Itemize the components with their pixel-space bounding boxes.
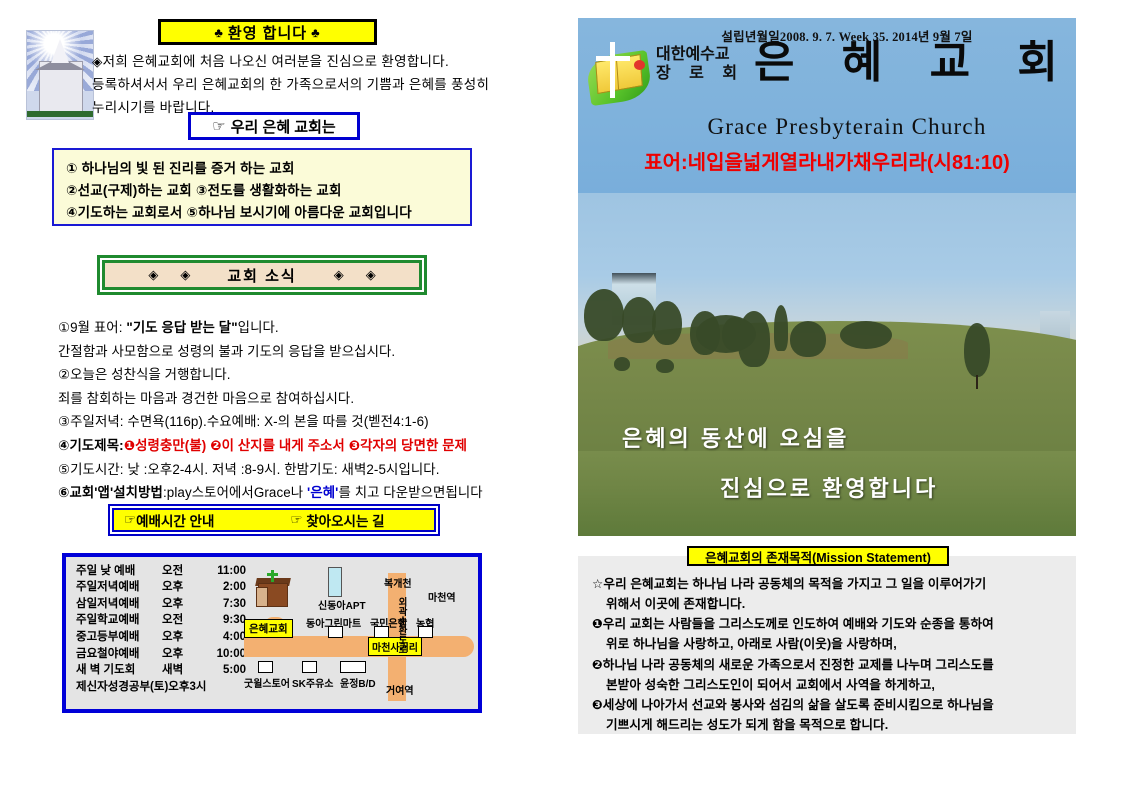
- church-motto: 표어:네입을넓게열라내가채우리라(시81:10): [578, 146, 1076, 175]
- prayer-topics-label: ④기도제목:: [58, 438, 124, 453]
- schedule-row: 주일학교예배 오전 9:30: [76, 613, 266, 630]
- news-item-prefix: ①9월 표어:: [58, 320, 126, 335]
- welcome-banner-title: 환영 합니다: [228, 22, 307, 43]
- schedule-row: 금요철야예배 오후 10:00: [76, 646, 266, 663]
- schedule-row-bible-study: 제신자성경공부(토)오후3시: [76, 679, 266, 696]
- our-church-banner: ☞ 우리 은혜 교회는: [188, 112, 360, 140]
- church-news-body: ①9월 표어: "기도 응답 받는 달"입니다. 간절함과 사모함으로 성령의 …: [58, 316, 558, 505]
- service-time: 7:30: [194, 599, 246, 611]
- church-name-english: Grace Presbyterain Church: [578, 114, 1076, 140]
- news-item: 간절함과 사모함으로 성령의 불과 기도의 응답을 받으십시다.: [58, 340, 558, 364]
- diamond-icon: ◈: [148, 267, 158, 283]
- schedule-row: 중고등부예배 오후 4:00: [76, 629, 266, 646]
- bible-study-text: 제신자성경공부(토)오후3시: [76, 682, 266, 694]
- service-name: 새 벽 기도회: [76, 665, 162, 677]
- map-mart-box: [328, 626, 343, 638]
- service-time: 9:30: [194, 615, 246, 627]
- map-church-side: [256, 587, 268, 607]
- church-header-banner: 설립년월일2008. 9. 7. Week 35. 2014년 9월 7일 대한…: [578, 18, 1076, 193]
- photo-tree: [790, 321, 826, 357]
- map-nonghyup-box: [418, 626, 433, 638]
- service-ampm: 오전: [162, 566, 194, 578]
- worship-directions-banner: ☞예배시간 안내 ☞ 찾아오시는 길: [108, 504, 440, 536]
- mission-line: 본받아 성숙한 그리스도인이 되어서 교회에서 사역을 하게하고,: [592, 675, 1066, 695]
- our-church-list-box: ① 하나님의 빛 된 진리를 증거 하는 교회 ②선교(구제)하는 교회 ③전도…: [52, 148, 472, 226]
- news-item-tail: 입니다.: [238, 320, 279, 335]
- mission-line: 위로 하나님을 사랑하고, 아래로 사람(이웃)을 사랑하며,: [592, 634, 1066, 654]
- news-item: 죄를 참회하는 마음과 경건한 마음으로 참여하십시다.: [58, 387, 558, 411]
- service-ampm: 새벽: [162, 665, 194, 677]
- app-install-label: ⑥교회'앱'설치방법: [58, 485, 163, 500]
- photo-tree: [774, 305, 788, 351]
- news-prayer-time: ⑤기도시간: 낮 :오후2-4시. 저녁 :8-9시. 한밤기도: 새벽2-5시…: [58, 458, 558, 482]
- map-apt-tower-icon: [328, 567, 342, 597]
- app-keyword: '은혜': [307, 485, 338, 500]
- service-ampm: 오후: [162, 582, 194, 594]
- pointing-hand-icon-b: ☞: [290, 512, 302, 528]
- map-bank-box: [374, 626, 389, 638]
- mission-line: 위해서 이곳에 존재합니다.: [592, 594, 1066, 614]
- map-label-gas: SK주유소: [292, 675, 334, 690]
- map-label-stream: 복개천: [384, 575, 412, 590]
- map-label-store: 굿윌스토어: [244, 675, 290, 690]
- service-name: 주일저녁예배: [76, 582, 162, 594]
- cross-icon-vertical: [271, 570, 274, 582]
- schedule-row: 새 벽 기도회 새벽 5:00: [76, 663, 266, 680]
- service-time: 2:00: [194, 582, 246, 594]
- news-prayer-topics-row: ④기도제목:❶성령충만(불) ❷이 산지를 내게 주소서 ❸각자의 당면한 문제: [58, 434, 558, 458]
- service-name: 주일 낮 예배: [76, 566, 162, 578]
- worship-schedule-table: 주일 낮 예배 오전 11:00 주일저녁예배 오후 2:00 삼일저녁예배 오…: [76, 563, 266, 696]
- photo-welcome-line1: 은혜의 동산에 오심을: [622, 421, 849, 453]
- service-time: 11:00: [194, 566, 246, 578]
- mission-line: 기쁘시게 해드리는 성도가 되게 함을 목적으로 합니다.: [592, 715, 1066, 735]
- church-name-korean: 은 혜 교 회: [754, 40, 1074, 87]
- our-church-line: ②선교(구제)하는 교회 ③전도를 생활화하는 교회: [66, 180, 458, 202]
- map-building-box: [340, 661, 366, 673]
- directions-label: 찾아오시는 길: [306, 510, 384, 530]
- news-item: ②오늘은 성찬식을 거행합니다.: [58, 363, 558, 387]
- right-column: 설립년월일2008. 9. 7. Week 35. 2014년 9월 7일 대한…: [578, 18, 1076, 538]
- app-install-text-b: 를 치고 다운받으면됩니다: [338, 485, 482, 500]
- diamond-icon: ◈: [180, 267, 190, 283]
- grass-strip: [27, 111, 93, 117]
- service-time: 5:00: [194, 665, 246, 677]
- photo-tree: [964, 323, 990, 377]
- cross-icon-horizontal: [596, 56, 630, 61]
- church-steeple-shape: [51, 39, 69, 63]
- prayer-topics-value: ❶성령충만(불) ❷이 산지를 내게 주소서 ❸각자의 당면한 문제: [124, 438, 467, 453]
- left-column: ♣ 환영 합니다 ♣ ◈저희 은혜교회에 처음 나오신 여러분을 진심으로 환영…: [0, 0, 560, 794]
- denomination-text: 대한예수교 장 로 회: [656, 46, 744, 84]
- mission-statement-banner: 은혜교회의 존재목적(Mission Statement): [687, 546, 949, 566]
- church-news-title: 교회 소식: [227, 265, 296, 286]
- schedule-row: 삼일저녁예배 오후 7:30: [76, 596, 266, 613]
- church-logo-icon: [584, 40, 658, 106]
- map-label-church: 은혜교회: [244, 619, 293, 638]
- map-label-building: 윤정B/D: [340, 675, 376, 690]
- mission-line: ❷하나님 나라 공동체의 새로운 가족으로서 진정한 교제를 나누며 그리스도를: [592, 655, 1066, 675]
- mission-line: ❶우리 교회는 사람들을 그리스도께로 인도하여 예배와 기도와 순종을 통하여: [592, 614, 1066, 634]
- photo-welcome-line2: 진심으로 환영합니다: [720, 471, 938, 503]
- map-gas-box: [302, 661, 317, 673]
- bulletin-page: ♣ 환영 합니다 ♣ ◈저희 은혜교회에 처음 나오신 여러분을 진심으로 환영…: [0, 0, 1123, 794]
- service-name: 금요철야예배: [76, 649, 162, 661]
- photo-tree: [652, 301, 682, 345]
- app-install-text-a: :play스토어에서Grace나: [163, 485, 307, 500]
- mission-line: ❸세상에 나아가서 선교와 봉사와 섬김의 삶을 살도록 준비시킴으로 하나님을: [592, 695, 1066, 715]
- club-icon-left: ♣: [214, 25, 224, 40]
- news-item: ③주일저녁: 수면욕(116p).수요예배: X-의 본을 따를 것(벧전4:1…: [58, 410, 558, 434]
- news-item: ①9월 표어: "기도 응답 받는 달"입니다.: [58, 316, 558, 340]
- welcome-banner: ♣ 환영 합니다 ♣: [158, 19, 377, 45]
- news-app-row: ⑥교회'앱'설치방법:play스토어에서Grace나 '은혜'를 치고 다운받으…: [58, 481, 558, 505]
- service-name: 주일학교예배: [76, 615, 162, 627]
- service-name: 중고등부예배: [76, 632, 162, 644]
- photo-tree-trunk: [976, 375, 978, 389]
- worship-time-label: 예배시간 안내: [136, 510, 214, 530]
- denomination-line2: 장 로 회: [656, 65, 744, 84]
- service-time: 10:00: [194, 649, 246, 661]
- cross-icon-horizontal: [267, 573, 278, 576]
- mission-statement-box: ☆우리 은혜교회는 하나님 나라 공동체의 목적을 가지고 그 일을 이루어가기…: [578, 556, 1076, 734]
- landscape-photo: 은혜의 동산에 오심을 진심으로 환영합니다: [578, 193, 1076, 536]
- map-store-box: [258, 661, 273, 673]
- diamond-icon: ◈: [366, 267, 376, 283]
- service-ampm: 오후: [162, 599, 194, 611]
- mission-line: ☆우리 은혜교회는 하나님 나라 공동체의 목적을 가지고 그 일을 이루어가기: [592, 574, 1066, 594]
- schedule-row: 주일 낮 예배 오전 11:00: [76, 563, 266, 580]
- news-item-emphasis: "기도 응답 받는 달": [126, 320, 237, 335]
- location-map: 은혜교회 마천사거리 외곽순환도로 신동아APT 동아그린마트 국민은행 농협 …: [244, 557, 482, 709]
- our-church-line: ① 하나님의 빛 된 진리를 증거 하는 교회: [66, 158, 458, 180]
- pointing-hand-icon-a: ☞: [124, 512, 136, 528]
- schedule-row: 주일저녁예배 오후 2:00: [76, 580, 266, 597]
- service-ampm: 오전: [162, 615, 194, 627]
- photo-tree: [840, 321, 892, 349]
- welcome-paragraph: ◈저희 은혜교회에 처음 나오신 여러분을 진심으로 환영합니다. 등록하셔서서…: [92, 50, 542, 120]
- denomination-line1: 대한예수교: [656, 46, 744, 65]
- service-ampm: 오후: [162, 632, 194, 644]
- pointing-hand-icon: ☞: [212, 117, 225, 135]
- our-church-line: ④기도하는 교회로서 ⑤하나님 보시기에 아름다운 교회입니다: [66, 202, 458, 224]
- map-label-apt: 신동아APT: [318, 597, 366, 612]
- diamond-icon: ◈: [334, 267, 344, 283]
- apple-icon: [634, 60, 645, 70]
- church-news-banner: ◈ ◈ 교회 소식 ◈ ◈: [97, 255, 427, 295]
- service-name: 삼일저녁예배: [76, 599, 162, 611]
- photo-bush: [614, 357, 630, 371]
- our-church-banner-title: 우리 은혜 교회는: [231, 116, 336, 137]
- cross-icon-vertical: [610, 42, 615, 98]
- photo-bush: [656, 359, 674, 373]
- service-time: 4:00: [194, 632, 246, 644]
- church-clipart-image: [26, 30, 94, 120]
- map-church-icon: [254, 571, 294, 607]
- photo-tree: [738, 311, 770, 367]
- map-label-station-top: 마천역: [428, 589, 456, 604]
- map-label-station-bottom: 거여역: [386, 682, 414, 697]
- photo-tree: [584, 289, 624, 341]
- club-icon-right: ♣: [311, 25, 321, 40]
- service-ampm: 오후: [162, 649, 194, 661]
- photo-tree: [622, 297, 656, 343]
- worship-and-map-box: 주일 낮 예배 오전 11:00 주일저녁예배 오후 2:00 삼일저녁예배 오…: [62, 553, 482, 713]
